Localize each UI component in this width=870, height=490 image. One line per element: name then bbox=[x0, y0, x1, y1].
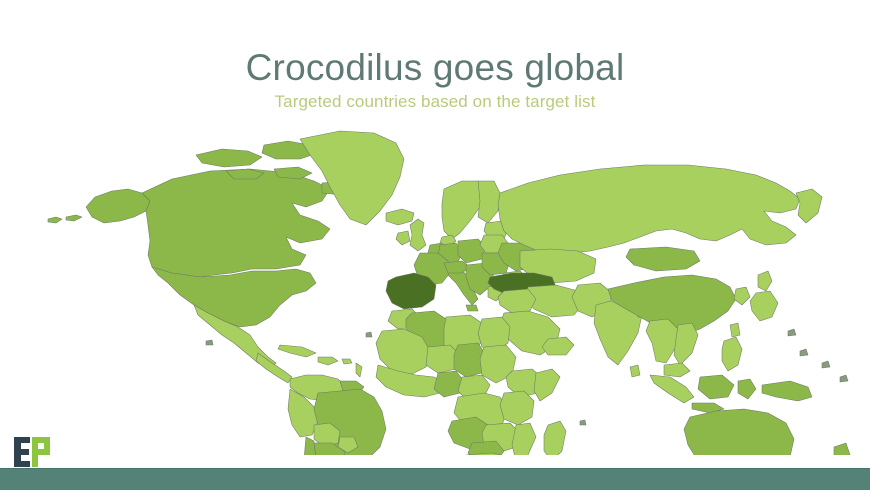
island-pacific-2 bbox=[822, 361, 830, 368]
country-sicily bbox=[466, 305, 478, 311]
country-ireland bbox=[396, 231, 410, 245]
country-aleutians bbox=[48, 217, 62, 223]
country-cuba bbox=[278, 345, 316, 357]
country-papua-new-guinea bbox=[762, 381, 812, 401]
country-central-america bbox=[256, 353, 292, 383]
country-japan-main bbox=[750, 291, 778, 321]
page-subtitle: Targeted countries based on the target l… bbox=[0, 92, 870, 112]
country-aleutians-2 bbox=[66, 215, 82, 221]
page-title: Crocodilus goes global bbox=[0, 48, 870, 88]
country-sulawesi bbox=[738, 379, 756, 399]
country-vietnam bbox=[674, 323, 698, 365]
island-pacific-3 bbox=[788, 329, 796, 336]
country-lesser-antilles bbox=[356, 363, 362, 377]
country-iceland bbox=[386, 209, 414, 225]
country-japan bbox=[758, 271, 772, 291]
country-sri-lanka bbox=[630, 365, 640, 377]
logo-dark-mark bbox=[14, 437, 30, 467]
country-madagascar bbox=[544, 421, 566, 455]
world-map-container bbox=[0, 125, 870, 455]
country-malaysia bbox=[664, 363, 690, 377]
country-new-zealand-north bbox=[834, 443, 850, 455]
country-somalia bbox=[534, 369, 560, 401]
country-alaska bbox=[86, 189, 150, 223]
country-canada bbox=[142, 169, 330, 277]
country-kamchatka bbox=[796, 189, 822, 223]
country-united-states bbox=[152, 267, 316, 327]
country-borneo bbox=[698, 375, 734, 399]
logo-green-mark bbox=[32, 437, 50, 467]
island-atlantic-1 bbox=[366, 332, 372, 337]
country-north-south-korea bbox=[734, 287, 750, 305]
country-finland bbox=[478, 181, 500, 223]
country-greenland bbox=[300, 131, 404, 225]
country-hispaniola bbox=[318, 357, 338, 365]
country-spain bbox=[386, 273, 436, 309]
world-choropleth-map bbox=[0, 125, 870, 455]
country-taiwan bbox=[730, 323, 740, 337]
title-block: Crocodilus goes global Targeted countrie… bbox=[0, 48, 870, 112]
country-iraq-syria bbox=[498, 289, 536, 313]
country-united-kingdom bbox=[410, 219, 426, 251]
country-sumatra bbox=[650, 375, 694, 403]
threatfabric-logo bbox=[14, 437, 50, 467]
slide-bottom-bar bbox=[0, 468, 870, 490]
country-canada-arctic-1 bbox=[196, 149, 262, 167]
country-puerto-rico bbox=[342, 359, 352, 364]
country-mongolia bbox=[626, 247, 700, 271]
island-indian-1 bbox=[580, 420, 586, 425]
country-myanmar-thailand bbox=[646, 319, 678, 363]
country-mozambique bbox=[512, 423, 536, 455]
island-pacific-1 bbox=[800, 349, 808, 356]
country-south-africa bbox=[458, 453, 516, 455]
island-pacific-4 bbox=[840, 375, 848, 382]
country-russia bbox=[498, 165, 800, 253]
country-kenya-tanzania bbox=[500, 391, 534, 425]
country-australia bbox=[684, 409, 794, 455]
island-caribbean-speck bbox=[206, 340, 213, 345]
country-canada-arctic-4 bbox=[274, 167, 312, 179]
country-philippines bbox=[722, 337, 742, 371]
presentation-slide: Crocodilus goes global Targeted countrie… bbox=[0, 0, 870, 490]
